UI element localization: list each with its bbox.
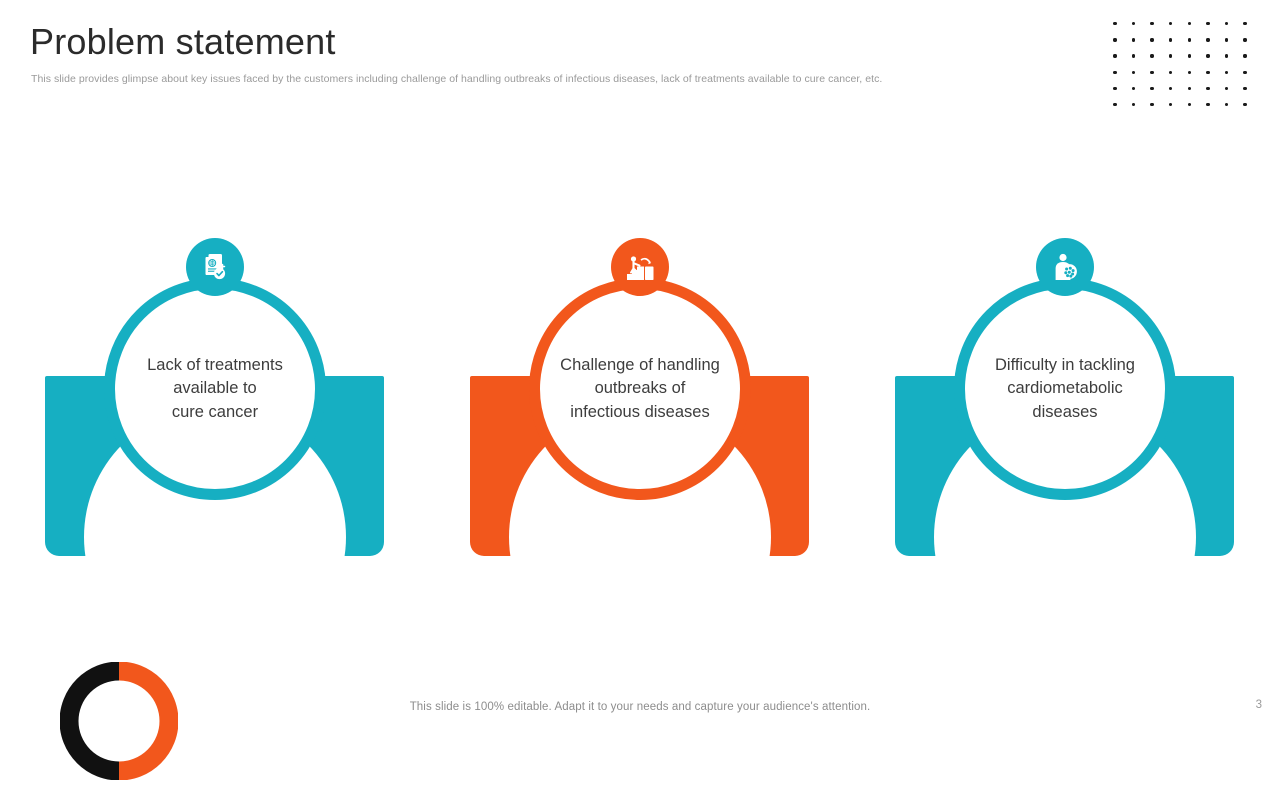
card-label: Difficulty in tackling cardiometabolic d… (954, 278, 1176, 500)
problem-card[interactable]: Challenge of handling outbreaks of infec… (470, 238, 810, 558)
card-label: Lack of treatments available to cure can… (104, 278, 326, 500)
problem-card[interactable]: Difficulty in tackling cardiometabolic d… (895, 238, 1235, 558)
human-body-organ-icon (1036, 238, 1094, 296)
page-number: 3 (1256, 699, 1262, 711)
problem-card-group: Lack of treatments available to cure can… (0, 0, 1280, 720)
footer-note: This slide is 100% editable. Adapt it to… (0, 701, 1280, 713)
card-label: Challenge of handling outbreaks of infec… (529, 278, 751, 500)
outbreak-spread-icon (611, 238, 669, 296)
problem-card[interactable]: Lack of treatments available to cure can… (45, 238, 385, 558)
donut-decoration (60, 662, 178, 780)
medical-report-icon (186, 238, 244, 296)
